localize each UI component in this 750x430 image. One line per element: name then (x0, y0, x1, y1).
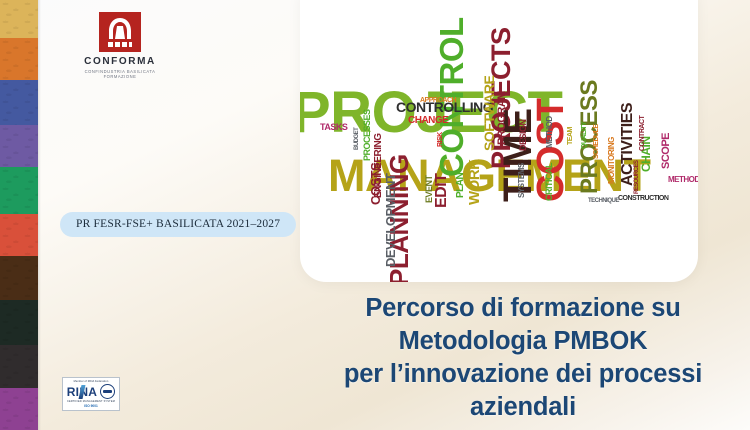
cloud-word: RISK (437, 132, 444, 147)
rina-membership-text: Member of RINA Federation (66, 380, 116, 383)
color-band-magenta (0, 388, 38, 430)
cloud-word: DEVELOPMENT (384, 174, 397, 267)
rina-mark: RINA (66, 384, 116, 399)
cloud-word: CRITICAL (545, 163, 554, 201)
word-cloud-card: PROJECTMANAGEMENTPLANNINGDEVELOPMENTCOST… (300, 0, 698, 282)
cloud-word: TECHNIQUE (588, 198, 619, 204)
cloud-word: TASKS (320, 123, 347, 132)
rina-slash-icon (78, 385, 85, 399)
slide-headline: Percorso di formazione suMetodologia PMB… (300, 292, 746, 424)
programme-badge: PR FESR-FSE+ BASILICATA 2021–2027 (60, 212, 296, 237)
cloud-word: SYSTEMS (518, 163, 526, 198)
cloud-word: MONITORING (608, 137, 616, 184)
cloud-word: CHANGE (408, 116, 448, 126)
cloud-word: CONSTRUCTION (618, 195, 668, 202)
cloud-word: SOFTWARE (482, 76, 496, 151)
headline-line-4: aziendali (300, 391, 746, 424)
presentation-slide: PROJECTMANAGEMENTPLANNINGDEVELOPMENTCOST… (0, 0, 750, 430)
conforma-wordmark: CONFORMA (72, 56, 168, 67)
conforma-mark-icon (99, 12, 141, 52)
rina-standard-text: ISO 9001 (66, 404, 116, 408)
cloud-word: SCOPE (661, 133, 672, 169)
cloud-word: EDIT (434, 174, 450, 208)
color-band-terracotta (0, 214, 38, 256)
left-color-strip (0, 0, 38, 430)
cloud-word: PROCESSES (363, 109, 372, 161)
conforma-logo: CONFORMA CONFINDUSTRIA BASILICATA FORMAZ… (72, 12, 168, 79)
cloud-word: PROGRAM (497, 91, 508, 145)
cloud-word: SCHEDULE (593, 124, 600, 159)
cloud-word: BUDGET (354, 128, 360, 150)
color-band-dark-green (0, 300, 38, 345)
color-band-gold (0, 0, 38, 38)
cloud-word: EVENT (425, 175, 434, 203)
cloud-word: CONTRACT (639, 116, 646, 151)
rina-certification-logo: Member of RINA Federation RINA CERTIFIED… (62, 377, 120, 411)
headline-line-2: Metodologia PMBOK (300, 325, 746, 358)
cloud-word: METHOD (546, 116, 554, 148)
cloud-word: PLAN (456, 173, 466, 198)
color-band-charcoal (0, 345, 38, 388)
color-band-indigo-blue (0, 80, 38, 125)
cloud-word: METHODOLOGY (668, 176, 698, 184)
conforma-tagline: CONFINDUSTRIA BASILICATA FORMAZIONE (72, 69, 168, 79)
color-band-purple (0, 125, 38, 167)
cloud-word: RESOURCES (634, 160, 640, 194)
cloud-word: TEAM (567, 127, 574, 145)
project-management-word-cloud: PROJECTMANAGEMENTPLANNINGDEVELOPMENTCOST… (300, 0, 698, 282)
color-strip-edge (38, 0, 41, 430)
headline-line-1: Percorso di formazione su (300, 292, 746, 325)
cloud-word: QUALITY (581, 122, 588, 149)
headline-line-3: per l’innovazione dei processi (300, 358, 746, 391)
rina-seal-icon (100, 384, 115, 399)
cloud-word: ENGINEERING (374, 133, 384, 198)
rina-wordmark: RINA (67, 386, 98, 398)
color-band-green (0, 167, 38, 214)
cloud-word: WORK (467, 160, 482, 206)
rina-system-text: CERTIFIED MANAGEMENT SYSTEM (66, 400, 116, 403)
cloud-word: DESIGN (519, 119, 528, 151)
cloud-word: APPROACH (420, 97, 456, 104)
color-band-brown (0, 256, 38, 300)
color-band-orange (0, 38, 38, 80)
